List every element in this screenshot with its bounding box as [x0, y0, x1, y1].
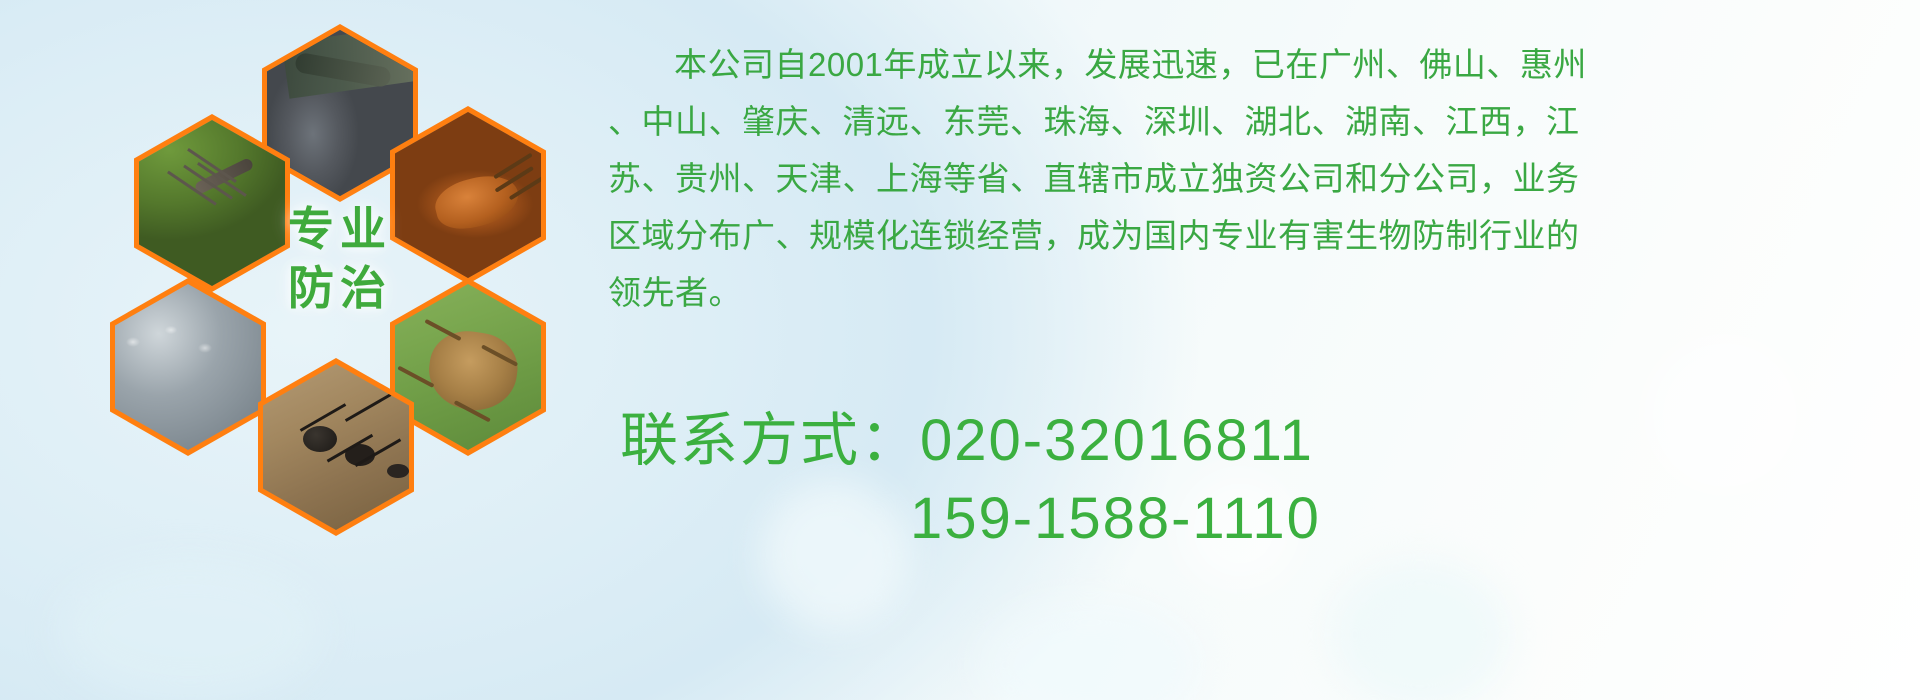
description-line-4: 区域分布广、规模化连锁经营，成为国内专业有害生物防制行业的	[608, 207, 1898, 264]
collage-headline-line-2: 防治	[260, 259, 420, 318]
flies-cluster-photo	[115, 284, 261, 450]
stink-bug-on-leaf-photo	[395, 284, 541, 450]
promo-banner: 专业 防治 本公司自2001年成立以来，发展迅速，已在广州、佛山、惠州 、中山、…	[0, 0, 1920, 700]
description-line-2: 、中山、肇庆、清远、东莞、珠海、深圳、湖北、湖南、江西，江	[608, 93, 1898, 150]
contact-info: 联系方式：020-32016811 159-1588-1110	[620, 402, 1920, 558]
hex-photo-flies	[110, 278, 266, 456]
hexagon-photo-collage: 专业 防治	[90, 10, 610, 570]
company-description: 本公司自2001年成立以来，发展迅速，已在广州、佛山、惠州 、中山、肇庆、清远、…	[608, 36, 1898, 321]
ant-photo	[263, 364, 409, 530]
cockroach-photo	[395, 112, 541, 278]
contact-mobile[interactable]: 159-1588-1110	[620, 480, 1920, 558]
background-bokeh	[1330, 560, 1510, 700]
contact-label-and-landline[interactable]: 联系方式：020-32016811	[620, 402, 1920, 480]
mosquito-on-skin-photo	[139, 120, 285, 286]
description-line-5: 领先者。	[608, 264, 1898, 321]
description-line-1: 本公司自2001年成立以来，发展迅速，已在广州、佛山、惠州	[608, 36, 1898, 93]
description-line-3: 苏、贵州、天津、上海等省、直辖市成立独资公司和分公司，业务	[608, 150, 1898, 207]
background-bokeh	[980, 600, 1200, 700]
background-bokeh	[60, 560, 320, 700]
